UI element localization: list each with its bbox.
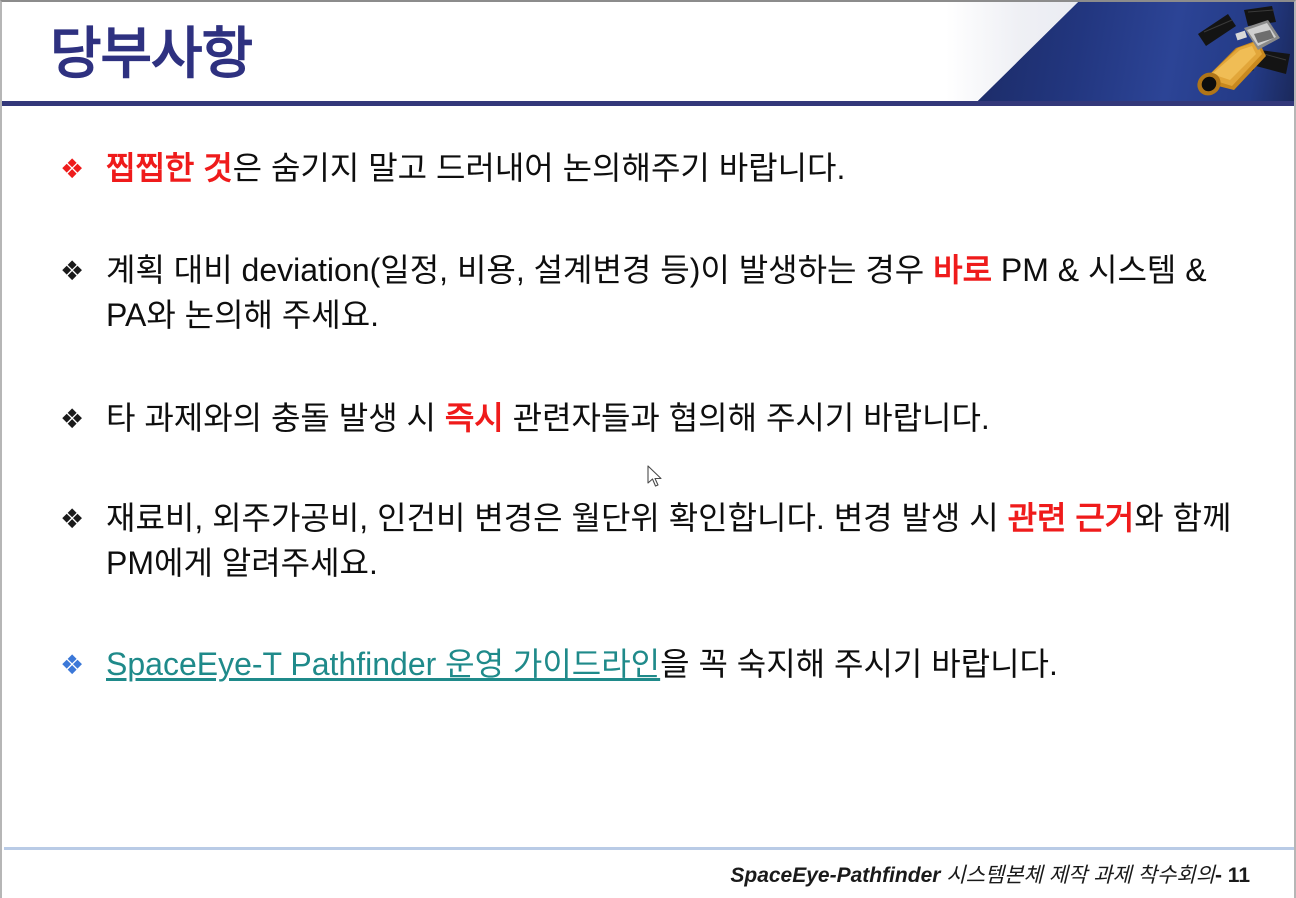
bullet-diamond-icon: ❖: [60, 496, 106, 544]
bullet-text: 찝찝한 것은 숨기지 말고 드러내어 논의해주기 바랍니다.: [106, 146, 1270, 191]
list-item: ❖ SpaceEye-T Pathfinder 운영 가이드라인을 꼭 숙지해 …: [60, 642, 1270, 690]
list-item: ❖ 타 과제와의 충돌 발생 시 즉시 관련자들과 협의해 주시기 바랍니다.: [60, 396, 1270, 444]
bullet-diamond-icon: ❖: [60, 146, 106, 194]
footer-project-name: SpaceEye-Pathfinder: [730, 864, 940, 887]
emphasis-text: 즉시: [445, 400, 504, 436]
page-title: 당부사항: [50, 16, 252, 92]
bullet-text: SpaceEye-T Pathfinder 운영 가이드라인을 꼭 숙지해 주시…: [106, 642, 1270, 687]
bullet-text: 계획 대비 deviation(일정, 비용, 설계변경 등)이 발생하는 경우…: [106, 248, 1270, 338]
footer-caption: SpaceEye-Pathfinder 시스템본체 제작 과제 착수회의- 11: [730, 859, 1250, 889]
slide-footer: SI SpaceEye-Pathfinder 시: [2, 850, 1296, 898]
slide-number: 11: [1228, 864, 1250, 887]
presentation-slide: 당부사항 ❖ 찝찝한 것은 숨기지 말고 드러내어 논의해주기 바랍니다. ❖ …: [0, 0, 1296, 898]
bullet-diamond-icon: ❖: [60, 248, 106, 296]
footer-separator: -: [1215, 864, 1222, 887]
emphasis-text: 찝찝한 것: [106, 150, 233, 186]
mouse-cursor: [647, 465, 665, 489]
satellite-icon: [1184, 4, 1296, 100]
emphasis-text: 관련 근거: [1008, 500, 1135, 536]
bullet-text-plain: 관련자들과 협의해 주시기 바랍니다.: [504, 400, 990, 436]
footer-meeting-name: 시스템본체 제작 과제 착수회의: [946, 864, 1215, 887]
bullet-text: 타 과제와의 충돌 발생 시 즉시 관련자들과 협의해 주시기 바랍니다.: [106, 396, 1270, 441]
list-item: ❖ 찝찝한 것은 숨기지 말고 드러내어 논의해주기 바랍니다.: [60, 146, 1270, 194]
bullet-text-plain: 을 꼭 숙지해 주시기 바랍니다.: [660, 646, 1058, 682]
guideline-hyperlink[interactable]: SpaceEye-T Pathfinder 운영 가이드라인: [106, 646, 660, 682]
bullet-diamond-icon: ❖: [60, 642, 106, 690]
list-item: ❖ 재료비, 외주가공비, 인건비 변경은 월단위 확인합니다. 변경 발생 시…: [60, 496, 1270, 586]
slide-header: 당부사항: [2, 2, 1296, 106]
list-item: ❖ 계획 대비 deviation(일정, 비용, 설계변경 등)이 발생하는 …: [60, 248, 1270, 338]
bullet-text-plain: 타 과제와의 충돌 발생 시: [106, 400, 445, 436]
bullet-text-plain: 은 숨기지 말고 드러내어 논의해주기 바랍니다.: [233, 150, 846, 186]
bullet-text-plain: 재료비, 외주가공비, 인건비 변경은 월단위 확인합니다. 변경 발생 시: [106, 500, 1008, 536]
bullet-text: 재료비, 외주가공비, 인건비 변경은 월단위 확인합니다. 변경 발생 시 관…: [106, 496, 1270, 586]
emphasis-text: 바로: [933, 252, 992, 288]
bullet-diamond-icon: ❖: [60, 396, 106, 444]
bullet-text-plain: 계획 대비 deviation(일정, 비용, 설계변경 등)이 발생하는 경우: [106, 252, 933, 288]
